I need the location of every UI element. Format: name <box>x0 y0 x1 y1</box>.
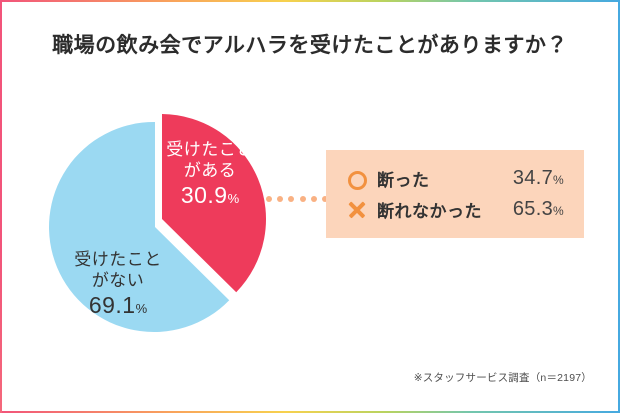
legend-value-declined: 34.7% <box>513 167 564 190</box>
pie-chart-svg <box>22 82 322 352</box>
legend-value-could-not-decline-number: 65.3 <box>513 198 553 220</box>
legend-value-declined-number: 34.7 <box>513 167 553 189</box>
legend-row-could-not-decline: 断れなかった 65.3% <box>346 194 564 225</box>
legend-value-declined-percent-symbol: % <box>553 173 564 187</box>
frame-top-gradient <box>0 0 620 2</box>
legend-label-declined: 断った <box>377 166 430 191</box>
legend-value-could-not-decline: 65.3% <box>513 198 564 221</box>
page-title: 職場の飲み会でアルハラを受けたことがありますか？ <box>0 29 620 59</box>
frame-left-gradient <box>0 0 2 413</box>
cross-icon <box>346 199 368 221</box>
connector-dot-icon <box>288 196 294 202</box>
connector-dot-icon <box>266 196 272 202</box>
legend-value-could-not-decline-percent-symbol: % <box>553 204 564 218</box>
connector-dot-icon <box>277 196 283 202</box>
dotted-connector <box>266 195 328 203</box>
circle-outline-icon <box>346 168 368 190</box>
pie-chart: 受けたこと がある 30.9% 受けたこと がない 69.1% <box>22 82 322 352</box>
legend-panel: 断った 34.7% 断れなかった 65.3% <box>326 150 584 238</box>
source-footnote: ※スタッフサービス調査（n＝2197） <box>414 370 592 385</box>
legend-row-declined: 断った 34.7% <box>346 163 564 194</box>
infographic-card: 職場の飲み会でアルハラを受けたことがありますか？ 受けたこと がある 30.9%… <box>0 0 620 413</box>
connector-dot-icon <box>300 196 306 202</box>
connector-dot-icon <box>311 196 317 202</box>
legend-label-could-not-decline: 断れなかった <box>377 197 482 222</box>
